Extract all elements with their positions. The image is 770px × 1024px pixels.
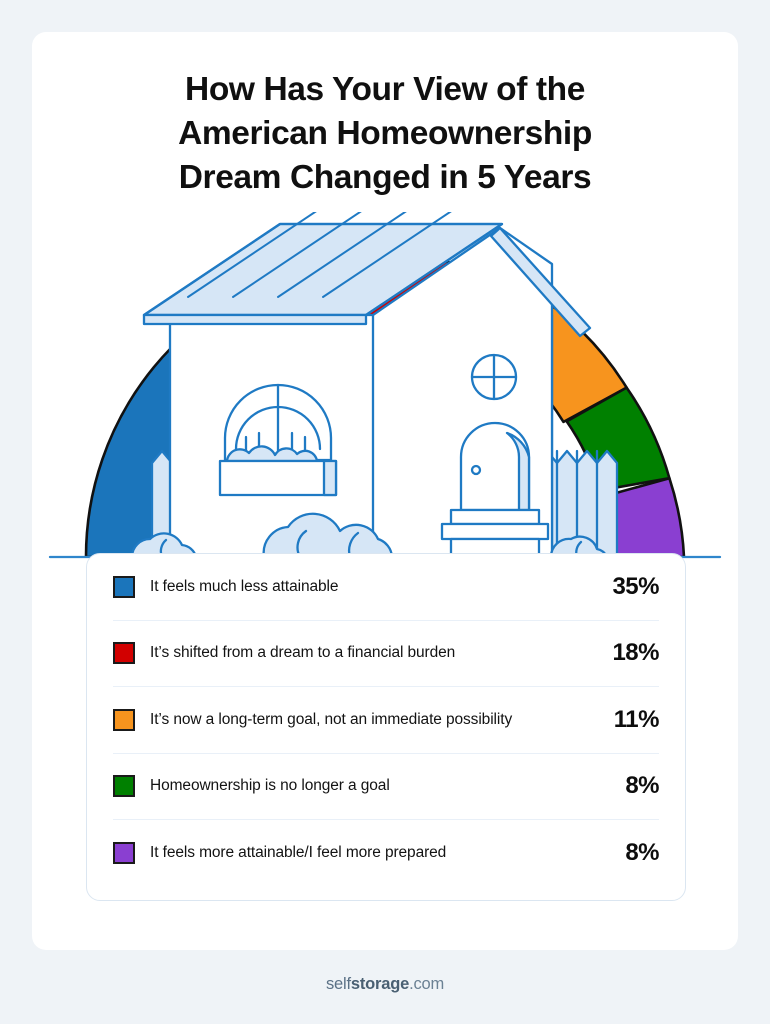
legend-row[interactable]: It’s now a long-term goal, not an immedi… bbox=[113, 687, 659, 754]
round-window bbox=[472, 355, 516, 399]
title-line-2: American Homeownership bbox=[32, 112, 738, 156]
legend-card: It feels much less attainable 35% It’s s… bbox=[86, 553, 686, 901]
legend-swatch-blue bbox=[113, 576, 135, 598]
legend-row[interactable]: It’s shifted from a dream to a financial… bbox=[113, 621, 659, 688]
front-door bbox=[461, 423, 529, 510]
illustration-svg bbox=[32, 212, 738, 582]
infographic-page: How Has Your View of the American Homeow… bbox=[0, 0, 770, 1024]
legend-label: It feels much less attainable bbox=[150, 577, 597, 597]
legend-swatch-purple bbox=[113, 842, 135, 864]
content-card: How Has Your View of the American Homeow… bbox=[32, 32, 738, 950]
legend-swatch-green bbox=[113, 775, 135, 797]
logo-suffix: .com bbox=[409, 975, 444, 993]
brand-logo[interactable]: selfstorage.com bbox=[326, 975, 444, 993]
legend-row[interactable]: It feels more attainable/I feel more pre… bbox=[113, 820, 659, 887]
title-line-1: How Has Your View of the bbox=[32, 68, 738, 112]
legend-row[interactable]: It feels much less attainable 35% bbox=[113, 554, 659, 621]
legend-label: It feels more attainable/I feel more pre… bbox=[150, 843, 597, 863]
legend-value: 35% bbox=[597, 573, 659, 601]
legend-value: 11% bbox=[597, 706, 659, 734]
page-title: How Has Your View of the American Homeow… bbox=[32, 68, 738, 200]
legend-swatch-red bbox=[113, 642, 135, 664]
legend-label: Homeownership is no longer a goal bbox=[150, 776, 597, 796]
legend-value: 8% bbox=[597, 772, 659, 800]
house-drawing bbox=[132, 212, 617, 557]
doorknob bbox=[472, 466, 480, 474]
legend-row[interactable]: Homeownership is no longer a goal 8% bbox=[113, 754, 659, 821]
logo-prefix: self bbox=[326, 975, 351, 993]
legend-value: 18% bbox=[597, 639, 659, 667]
legend-label: It’s shifted from a dream to a financial… bbox=[150, 643, 597, 663]
legend-value: 8% bbox=[597, 839, 659, 867]
house-gauge-illustration bbox=[32, 212, 738, 582]
roof-eave bbox=[144, 315, 366, 324]
footer: selfstorage.com bbox=[0, 975, 770, 994]
title-line-3: Dream Changed in 5 Years bbox=[32, 156, 738, 200]
legend-label: It’s now a long-term goal, not an immedi… bbox=[150, 710, 597, 730]
legend-swatch-orange bbox=[113, 709, 135, 731]
logo-bold: storage bbox=[351, 975, 409, 993]
door-steps bbox=[442, 510, 548, 557]
